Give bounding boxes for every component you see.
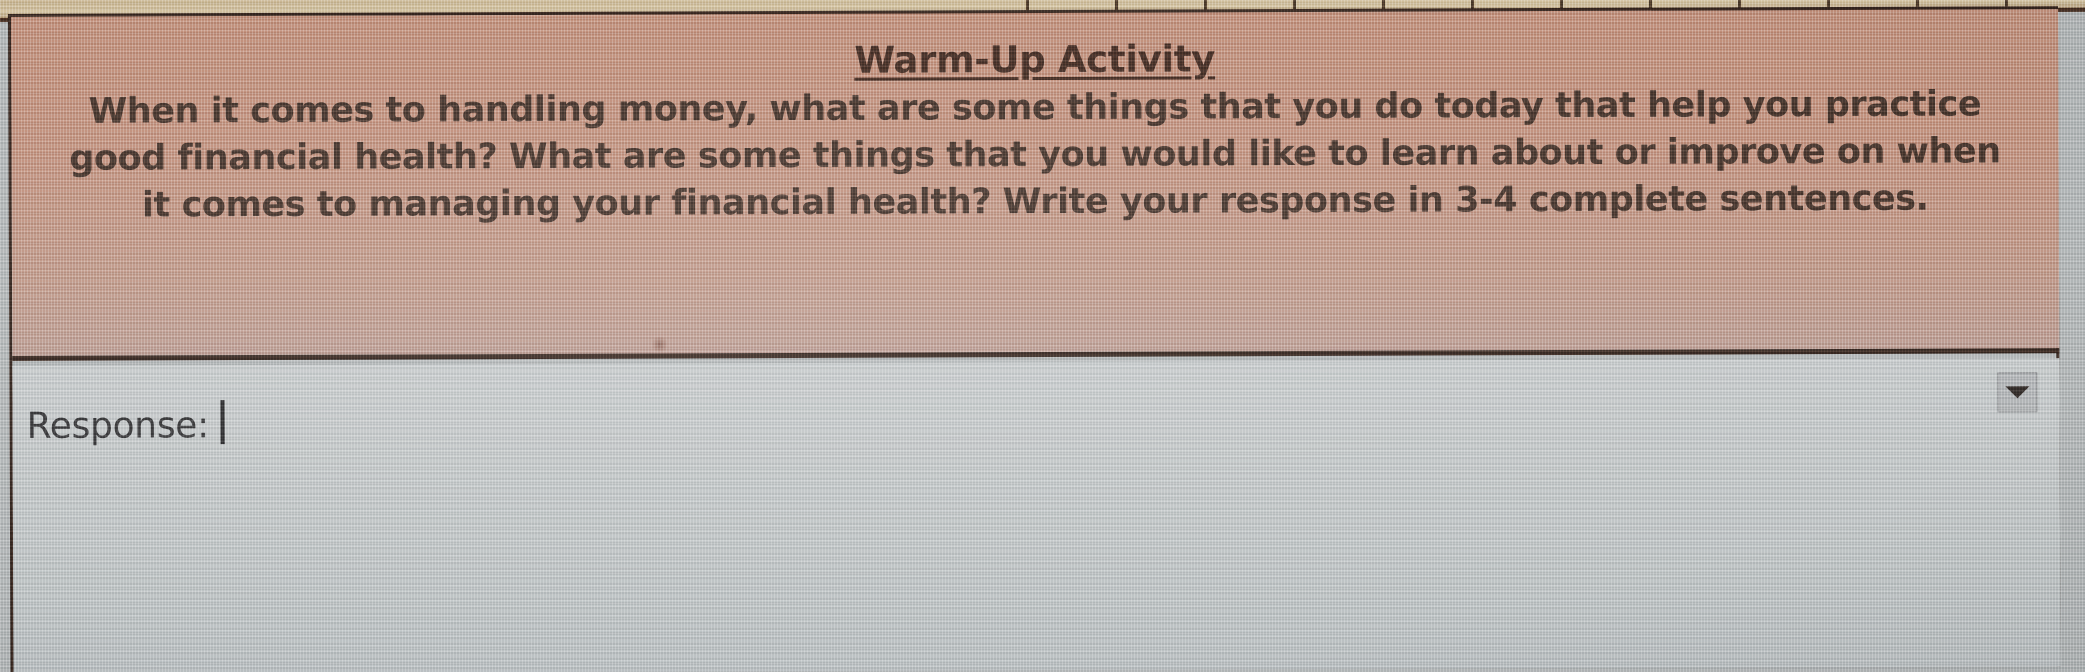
text-cursor-caret	[221, 400, 225, 444]
response-input-line[interactable]: Response:	[26, 386, 2059, 447]
worksheet-table: Warm-Up Activity When it comes to handli…	[8, 6, 2061, 672]
screen-photo: Warm-Up Activity When it comes to handli…	[0, 0, 2085, 672]
prompt-title: Warm-Up Activity	[45, 33, 2024, 87]
response-label: Response:	[27, 405, 209, 447]
response-cell[interactable]: Response:	[12, 358, 2060, 672]
chevron-down-icon	[2005, 386, 2029, 398]
prompt-body-text: When it comes to handling money, what ar…	[65, 81, 2006, 229]
chevron-down-button[interactable]	[1997, 372, 2037, 412]
prompt-cell[interactable]: Warm-Up Activity When it comes to handli…	[11, 9, 2059, 361]
